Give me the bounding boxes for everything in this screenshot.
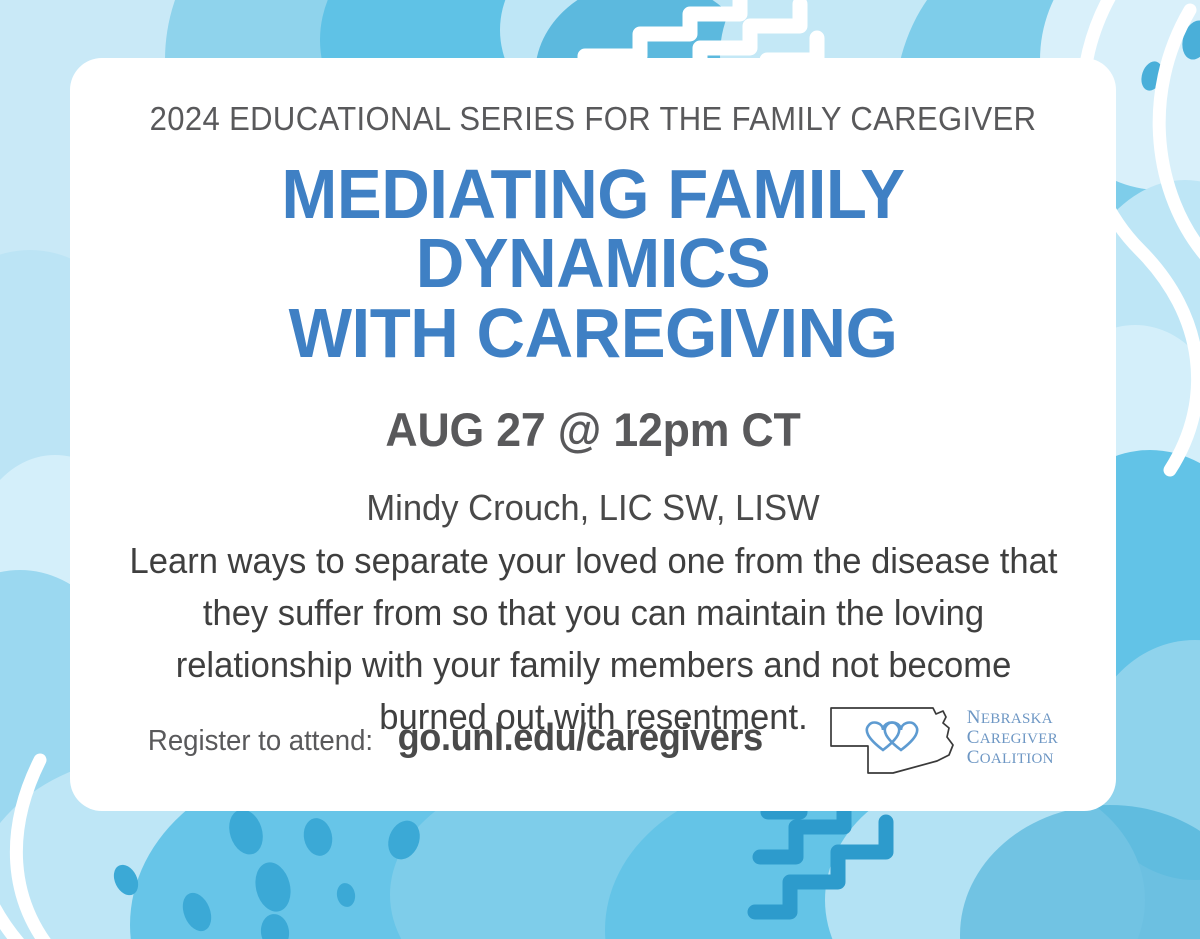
register-label: Register to attend: [148, 725, 373, 758]
logo-line-nebraska: NEBRASKA [967, 708, 1058, 728]
flyer-poster: 2024 EDUCATIONAL SERIES FOR THE FAMILY C… [0, 0, 1200, 939]
logo-line-caregiver: CAREGIVER [967, 728, 1058, 748]
nebraska-caregiver-coalition-logo: NEBRASKA CAREGIVER COALITION [825, 699, 1058, 777]
headline-line-1: MEDIATING FAMILY DYNAMICS [281, 155, 904, 302]
nebraska-state-outline-icon [825, 699, 961, 777]
logo-wordmark: NEBRASKA CAREGIVER COALITION [967, 708, 1058, 768]
registration-callout[interactable]: Register to attend: go.unl.edu/caregiver… [142, 717, 772, 760]
headline-line-2: WITH CAREGIVING [116, 299, 1070, 368]
page-title: MEDIATING FAMILY DYNAMICS WITH CAREGIVIN… [116, 160, 1070, 368]
logo-line-coalition: COALITION [967, 748, 1058, 768]
registration-link[interactable]: go.unl.edu/caregivers [398, 717, 763, 760]
presenter-name: Mindy Crouch, LIC SW, LISW [116, 487, 1070, 529]
series-eyebrow: 2024 EDUCATIONAL SERIES FOR THE FAMILY C… [126, 100, 1060, 138]
card-content: 2024 EDUCATIONAL SERIES FOR THE FAMILY C… [70, 58, 1116, 744]
event-datetime: AUG 27 @ 12pm CT [121, 402, 1065, 457]
content-card: 2024 EDUCATIONAL SERIES FOR THE FAMILY C… [70, 58, 1116, 811]
footer-row: Register to attend: go.unl.edu/caregiver… [70, 699, 1116, 777]
